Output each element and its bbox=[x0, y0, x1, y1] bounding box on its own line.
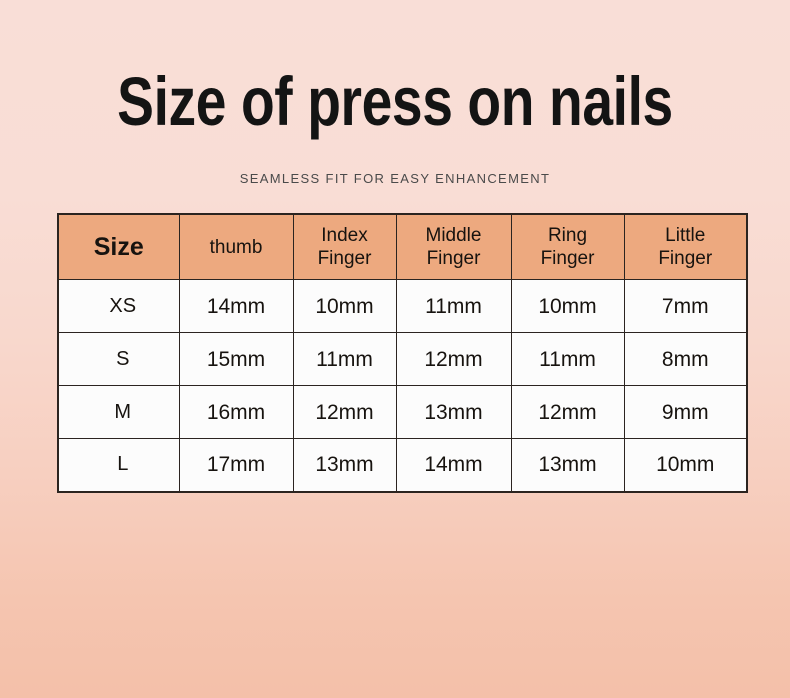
table-row: M 16mm 12mm 13mm 12mm 9mm bbox=[58, 386, 747, 439]
column-header-thumb: thumb bbox=[179, 214, 293, 280]
column-header-ring-line1: Ring bbox=[512, 224, 624, 247]
column-header-middle-line1: Middle bbox=[397, 224, 511, 247]
cell-ring: 11mm bbox=[511, 333, 624, 386]
column-header-index-line1: Index bbox=[294, 224, 396, 247]
table-header-row: Size thumb Index Finger Middle Finger Ri bbox=[58, 214, 747, 280]
cell-little: 9mm bbox=[624, 386, 747, 439]
cell-middle: 12mm bbox=[396, 333, 511, 386]
cell-middle: 13mm bbox=[396, 386, 511, 439]
cell-thumb: 16mm bbox=[179, 386, 293, 439]
cell-size: L bbox=[58, 439, 179, 492]
size-chart-table: Size thumb Index Finger Middle Finger Ri bbox=[57, 213, 748, 493]
column-header-ring-line2: Finger bbox=[512, 247, 624, 270]
column-header-little-finger: Little Finger bbox=[624, 214, 747, 280]
page-subtitle: SEAMLESS FIT FOR EASY ENHANCEMENT bbox=[0, 170, 790, 188]
column-header-little-line1: Little bbox=[625, 224, 747, 247]
table-header: Size thumb Index Finger Middle Finger Ri bbox=[58, 214, 747, 280]
table-row: XS 14mm 10mm 11mm 10mm 7mm bbox=[58, 280, 747, 333]
cell-size: XS bbox=[58, 280, 179, 333]
cell-middle: 11mm bbox=[396, 280, 511, 333]
column-header-middle-finger: Middle Finger bbox=[396, 214, 511, 280]
cell-index: 13mm bbox=[293, 439, 396, 492]
column-header-little-line2: Finger bbox=[625, 247, 747, 270]
table-row: L 17mm 13mm 14mm 13mm 10mm bbox=[58, 439, 747, 492]
cell-little: 10mm bbox=[624, 439, 747, 492]
column-header-size-line1: Size bbox=[59, 233, 179, 261]
cell-thumb: 17mm bbox=[179, 439, 293, 492]
cell-ring: 12mm bbox=[511, 386, 624, 439]
column-header-index-line2: Finger bbox=[294, 247, 396, 270]
cell-ring: 10mm bbox=[511, 280, 624, 333]
cell-middle: 14mm bbox=[396, 439, 511, 492]
column-header-index-finger: Index Finger bbox=[293, 214, 396, 280]
cell-ring: 13mm bbox=[511, 439, 624, 492]
column-header-middle-line2: Finger bbox=[397, 247, 511, 270]
cell-little: 7mm bbox=[624, 280, 747, 333]
size-table-container: Size thumb Index Finger Middle Finger Ri bbox=[57, 213, 746, 490]
cell-index: 10mm bbox=[293, 280, 396, 333]
column-header-thumb-line1: thumb bbox=[180, 236, 293, 259]
cell-thumb: 14mm bbox=[179, 280, 293, 333]
cell-index: 12mm bbox=[293, 386, 396, 439]
table-body: XS 14mm 10mm 11mm 10mm 7mm S 15mm 11mm 1… bbox=[58, 280, 747, 492]
cell-thumb: 15mm bbox=[179, 333, 293, 386]
table-row: S 15mm 11mm 12mm 11mm 8mm bbox=[58, 333, 747, 386]
cell-size: S bbox=[58, 333, 179, 386]
page-title: Size of press on nails bbox=[79, 63, 711, 141]
column-header-size: Size bbox=[58, 214, 179, 280]
cell-index: 11mm bbox=[293, 333, 396, 386]
column-header-ring-finger: Ring Finger bbox=[511, 214, 624, 280]
cell-size: M bbox=[58, 386, 179, 439]
cell-little: 8mm bbox=[624, 333, 747, 386]
size-chart-poster: Size of press on nails SEAMLESS FIT FOR … bbox=[0, 0, 790, 698]
